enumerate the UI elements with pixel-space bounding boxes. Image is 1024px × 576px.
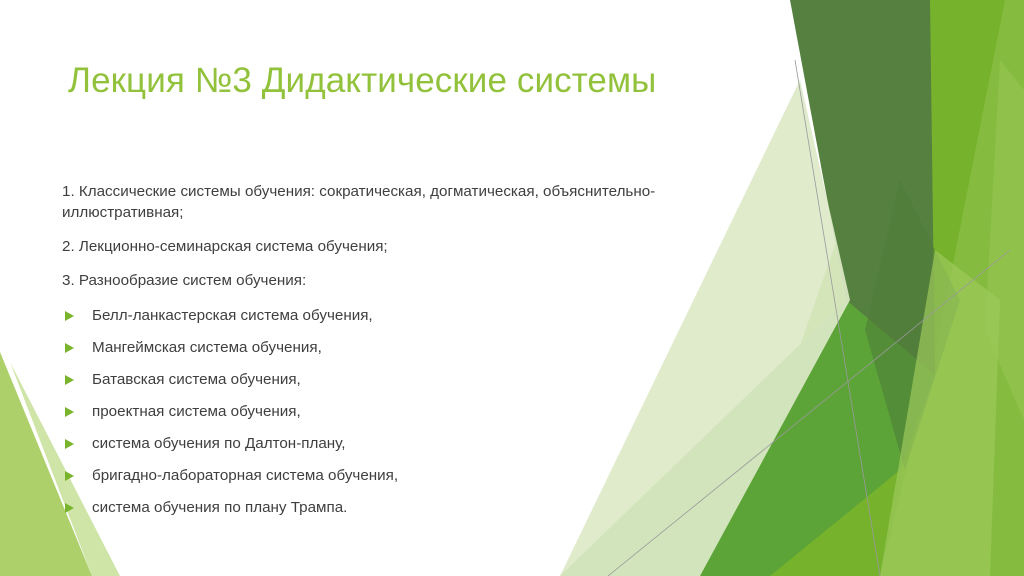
- deco-hairline-steep: [795, 60, 880, 576]
- title-block: Лекция №3 Дидактические системы: [68, 50, 768, 112]
- list-item: система обучения по плану Трампа.: [62, 497, 762, 518]
- numbered-item-2: 2. Лекционно-семинарская система обучени…: [62, 237, 762, 258]
- list-item-label: Белл-ланкастерская система обучения,: [92, 305, 373, 326]
- triangle-right-icon: [62, 369, 92, 385]
- list-item-label: система обучения по плану Трампа.: [92, 497, 347, 518]
- page-title: Лекция №3 Дидактические системы: [68, 61, 656, 101]
- list-item-label: бригадно-лабораторная система обучения,: [92, 465, 398, 486]
- list-item: Мангеймская система обучения,: [62, 337, 762, 358]
- list-item: Белл-ланкастерская система обучения,: [62, 305, 762, 326]
- list-item-label: Мангеймская система обучения,: [92, 337, 322, 358]
- deco-light-wedge: [880, 250, 1000, 576]
- triangle-right-icon: [62, 433, 92, 449]
- list-item: Батавская система обучения,: [62, 369, 762, 390]
- list-item: проектная система обучения,: [62, 401, 762, 422]
- triangle-right-icon: [62, 497, 92, 513]
- list-item: бригадно-лабораторная система обучения,: [62, 465, 762, 486]
- numbered-item-3: 3. Разнообразие систем обучения:: [62, 271, 762, 292]
- numbered-item-1: 1. Классические системы обучения: сократ…: [62, 182, 762, 224]
- triangle-right-icon: [62, 305, 92, 321]
- list-item: система обучения по Далтон-плану,: [62, 433, 762, 454]
- triangle-right-icon: [62, 465, 92, 481]
- presentation-slide: Лекция №3 Дидактические системы 1. Класс…: [0, 0, 1024, 576]
- list-item-label: Батавская система обучения,: [92, 369, 301, 390]
- bullet-list: Белл-ланкастерская система обучения, Ман…: [62, 305, 762, 518]
- list-item-label: проектная система обучения,: [92, 401, 301, 422]
- deco-right-sliver: [985, 60, 1024, 420]
- triangle-right-icon: [62, 401, 92, 417]
- triangle-right-icon: [62, 337, 92, 353]
- deco-right-base: [790, 0, 1024, 576]
- deco-dark-wedge-lower: [865, 180, 960, 470]
- deco-dark-olive-shape: [790, 0, 935, 375]
- list-item-label: система обучения по Далтон-плану,: [92, 433, 345, 454]
- content-body: 1. Классические системы обучения: сократ…: [62, 182, 762, 529]
